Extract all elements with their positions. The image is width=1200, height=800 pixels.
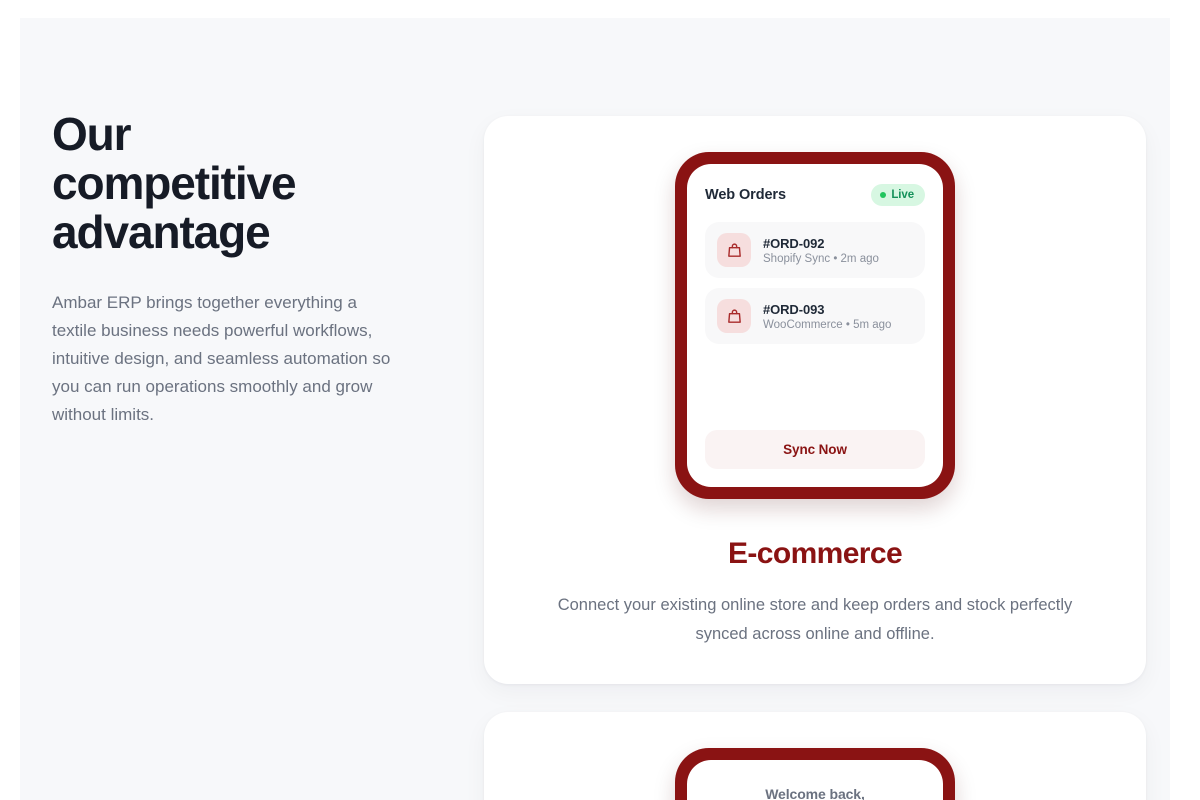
order-id: #ORD-092 [763,236,879,251]
intro-column: Our competitive advantage Ambar ERP brin… [52,110,452,429]
green-dot-icon [880,192,886,198]
mock-app-header: Web Orders Live [705,184,925,206]
sync-now-button[interactable]: Sync Now [705,430,925,469]
feature-card-list: Web Orders Live [484,116,1146,800]
feature-description: Connect your existing online store and k… [532,591,1098,649]
order-meta: Shopify Sync • 2m ago [763,253,879,265]
list-item-text: #ORD-092 Shopify Sync • 2m ago [763,236,879,265]
order-meta: WooCommerce • 5m ago [763,319,891,331]
shopping-bag-icon [717,233,751,267]
list-item[interactable]: #ORD-093 WooCommerce • 5m ago [705,288,925,344]
mock-app-title: Web Orders [705,187,786,203]
welcome-message: Welcome back, [765,786,865,800]
page-section: Our competitive advantage Ambar ERP brin… [20,18,1170,800]
feature-caption: E-commerce Connect your existing online … [514,537,1116,649]
status-badge: Live [871,184,925,206]
list-item-text: #ORD-093 WooCommerce • 5m ago [763,302,891,331]
feature-card-dashboard: Welcome back, [484,712,1146,800]
phone-screen: Welcome back, [687,760,943,800]
order-id: #ORD-093 [763,302,891,317]
phone-frame: Welcome back, [675,748,955,800]
list-item[interactable]: #ORD-092 Shopify Sync • 2m ago [705,222,925,278]
order-list: #ORD-092 Shopify Sync • 2m ago [705,222,925,344]
intro-paragraph: Ambar ERP brings together everything a t… [52,289,392,429]
section-grid: Our competitive advantage Ambar ERP brin… [20,18,1170,800]
phone-screen: Web Orders Live [687,164,943,487]
feature-title: E-commerce [514,537,1116,571]
shopping-bag-icon [717,299,751,333]
phone-mockup-wrapper: Welcome back, [514,748,1116,800]
feature-card-ecommerce: Web Orders Live [484,116,1146,684]
screen-spacer [705,344,925,430]
page-title: Our competitive advantage [52,110,382,257]
status-badge-label: Live [891,189,914,201]
phone-mockup-wrapper: Web Orders Live [514,152,1116,499]
phone-frame: Web Orders Live [675,152,955,499]
